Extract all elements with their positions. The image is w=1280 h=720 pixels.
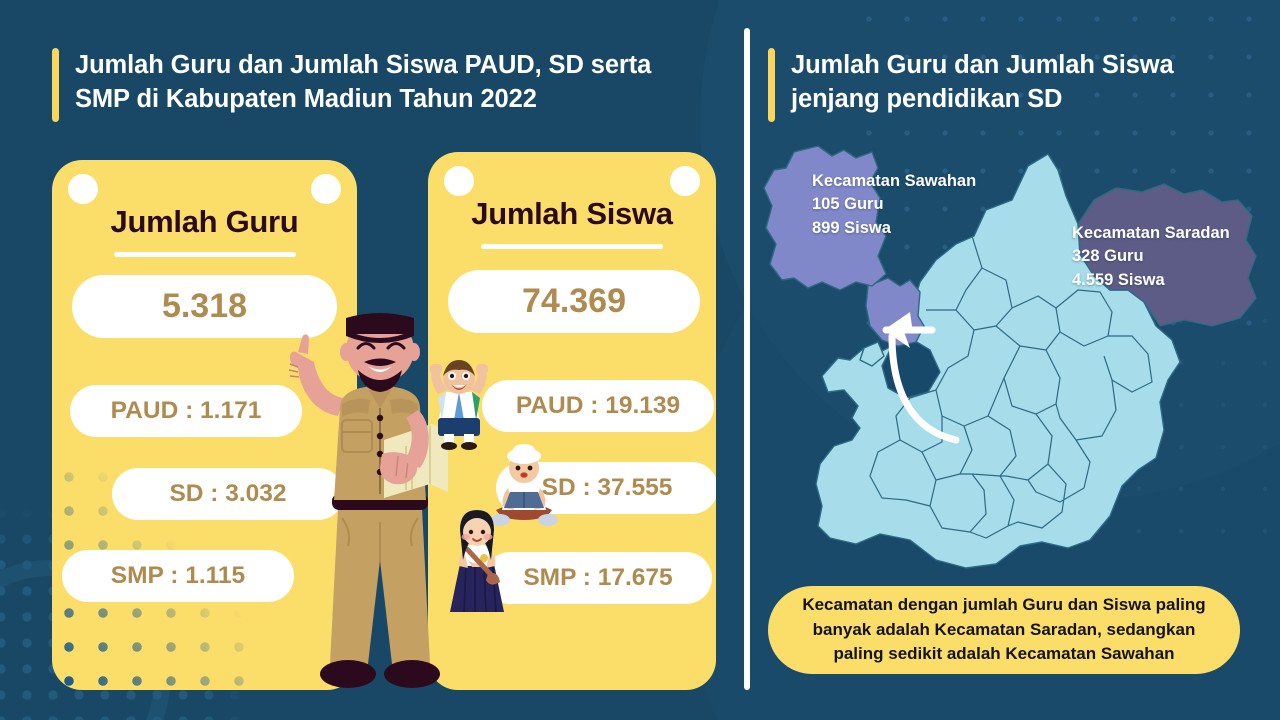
left-title-text: Jumlah Guru dan Jumlah Siswa PAUD, SD se…: [75, 48, 651, 117]
right-title-text: Jumlah Guru dan Jumlah Siswa jenjang pen…: [791, 48, 1174, 117]
guru-smp-value: SMP : 1.115: [62, 550, 294, 602]
card-title-underline: [114, 252, 296, 257]
card-guru-title: Jumlah Guru: [52, 204, 357, 240]
map-label-sawahan: Kecamatan Sawahan 105 Guru 899 Siswa: [812, 170, 976, 240]
card-notch-left: [444, 166, 474, 196]
siswa-paud-value: PAUD : 19.139: [482, 380, 714, 432]
title-accent-bar: [52, 48, 59, 122]
guru-paud-value: PAUD : 1.171: [70, 385, 302, 437]
card-title-underline: [481, 244, 663, 249]
map-kabupaten-madiun: Kecamatan Sawahan 105 Guru 899 Siswa Kec…: [760, 140, 1272, 580]
map-label-saradan: Kecamatan Saradan 328 Guru 4.559 Siswa: [1072, 222, 1230, 292]
map-caption-box: Kecamatan dengan jumlah Guru dan Siswa p…: [768, 586, 1240, 674]
card-notch-right: [311, 174, 341, 204]
student-smp-illustration: [444, 508, 510, 620]
card-siswa-title: Jumlah Siswa: [428, 196, 716, 232]
card-notch-right: [670, 166, 700, 196]
siswa-total-value: 74.369: [448, 270, 700, 333]
left-section-title: Jumlah Guru dan Jumlah Siswa PAUD, SD se…: [52, 48, 712, 122]
vertical-divider: [744, 28, 750, 690]
student-paud-illustration: [424, 358, 494, 450]
card-notch-left: [68, 174, 98, 204]
title-accent-bar: [768, 48, 775, 122]
right-section-title: Jumlah Guru dan Jumlah Siswa jenjang pen…: [768, 48, 1238, 122]
infographic-canvas: Jumlah Guru dan Jumlah Siswa PAUD, SD se…: [0, 0, 1280, 720]
siswa-smp-value: SMP : 17.675: [484, 552, 712, 604]
